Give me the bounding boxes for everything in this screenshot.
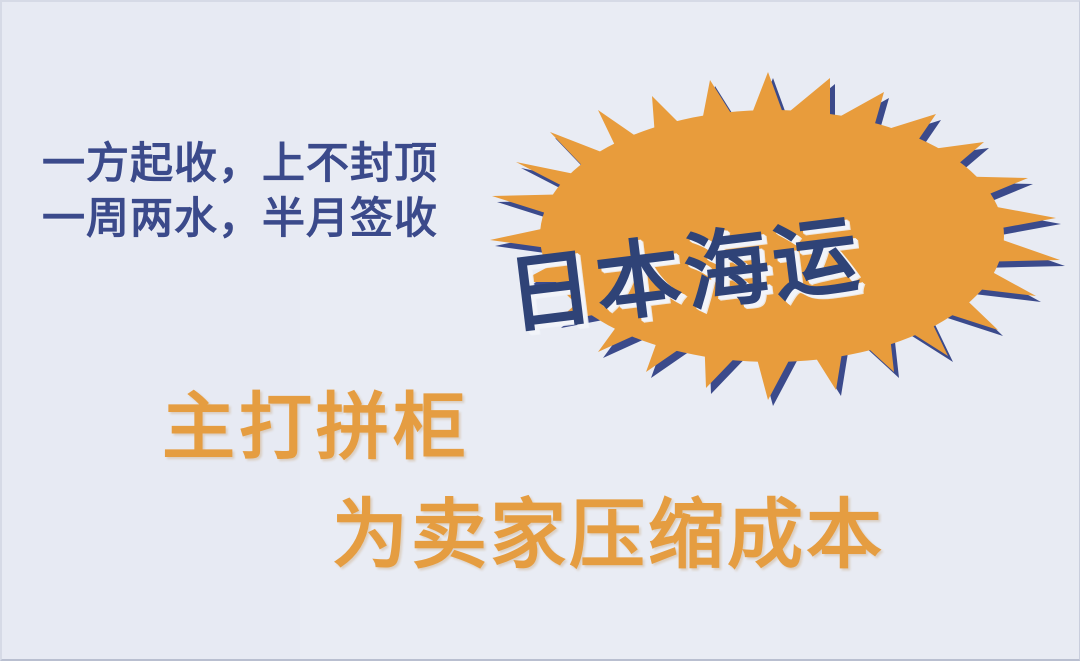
starburst-badge: 日本海运 bbox=[432, 60, 1080, 420]
blue-headline-line-2: 一周两水，半月签收 bbox=[42, 192, 438, 247]
orange-headline-line-2: 为卖家压缩成本 bbox=[332, 473, 885, 583]
orange-headline-line-1: 主打拼柜 bbox=[162, 368, 470, 474]
background-band-left bbox=[0, 0, 300, 661]
promo-poster: 一方起收，上不封顶 一周两水，半月签收 日本海运 主打拼柜 为卖家压缩成本 bbox=[0, 0, 1080, 661]
blue-headline-line-1: 一方起收，上不封顶 bbox=[42, 137, 438, 192]
blue-headline: 一方起收，上不封顶 一周两水，半月签收 bbox=[42, 137, 438, 247]
